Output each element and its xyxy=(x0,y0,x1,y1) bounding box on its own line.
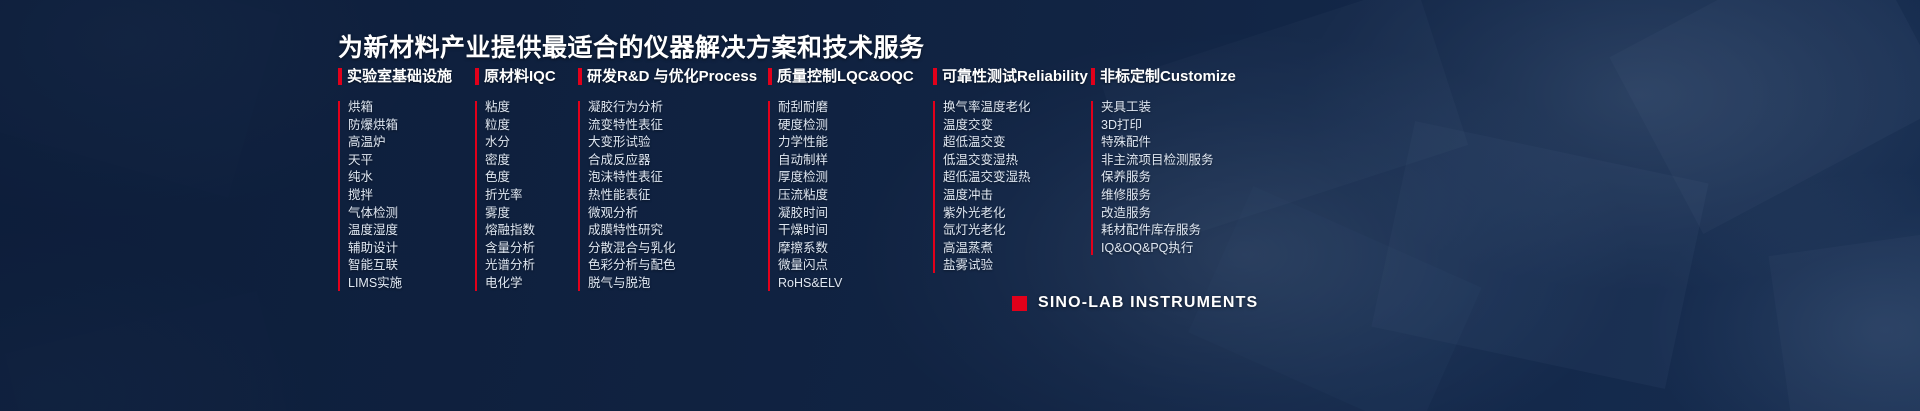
category-items-4: 耐刮耐磨 硬度检测 力学性能 自动制样 厚度检测 压流粘度 凝胶时间 干燥时间 … xyxy=(768,99,933,293)
list-item[interactable]: 非主流项目检测服务 xyxy=(1101,152,1251,170)
list-item[interactable]: 大变形试验 xyxy=(588,134,768,152)
list-item[interactable]: 凝胶行为分析 xyxy=(588,99,768,117)
category-column-3: 研发R&D 与优化Process 凝胶行为分析 流变特性表征 大变形试验 合成反… xyxy=(578,68,768,293)
category-items-5: 换气率温度老化 温度交变 超低温交变 低温交变湿热 超低温交变湿热 温度冲击 紫… xyxy=(933,99,1091,275)
category-column-1: 实验室基础设施 烘箱 防爆烘箱 高温炉 天平 纯水 搅拌 气体检测 温度湿度 辅… xyxy=(338,68,475,293)
list-item[interactable]: 维修服务 xyxy=(1101,187,1251,205)
category-items-1: 烘箱 防爆烘箱 高温炉 天平 纯水 搅拌 气体检测 温度湿度 辅助设计 智能互联… xyxy=(338,99,475,293)
category-header-2: 原材料IQC xyxy=(475,68,578,86)
list-item[interactable]: 成膜特性研究 xyxy=(588,222,768,240)
list-item[interactable]: 泡沫特性表征 xyxy=(588,169,768,187)
list-item[interactable]: 折光率 xyxy=(485,187,578,205)
list-item[interactable]: 智能互联 xyxy=(348,257,475,275)
list-item[interactable]: 防爆烘箱 xyxy=(348,117,475,135)
list-item[interactable]: 搅拌 xyxy=(348,187,475,205)
list-item[interactable]: 超低温交变湿热 xyxy=(943,169,1091,187)
banner-stage: 为新材料产业提供最适合的仪器解决方案和技术服务 实验室基础设施 烘箱 防爆烘箱 … xyxy=(0,0,1920,411)
category-column-6: 非标定制Customize 夹具工装 3D打印 特殊配件 非主流项目检测服务 保… xyxy=(1091,68,1251,293)
list-item[interactable]: 氙灯光老化 xyxy=(943,222,1091,240)
list-item[interactable]: 微量闪点 xyxy=(778,257,933,275)
list-item[interactable]: 保养服务 xyxy=(1101,169,1251,187)
list-item[interactable]: 耗材配件库存服务 xyxy=(1101,222,1251,240)
list-item[interactable]: 干燥时间 xyxy=(778,222,933,240)
list-item[interactable]: 紫外光老化 xyxy=(943,205,1091,223)
list-item[interactable]: 硬度检测 xyxy=(778,117,933,135)
list-item[interactable]: 温度交变 xyxy=(943,117,1091,135)
list-item[interactable]: 高温蒸煮 xyxy=(943,240,1091,258)
list-item[interactable]: 热性能表征 xyxy=(588,187,768,205)
list-item[interactable]: 粒度 xyxy=(485,117,578,135)
list-item[interactable]: 雾度 xyxy=(485,205,578,223)
category-header-1: 实验室基础设施 xyxy=(338,68,475,86)
list-item[interactable]: 合成反应器 xyxy=(588,152,768,170)
list-item[interactable]: 改造服务 xyxy=(1101,205,1251,223)
list-item[interactable]: 水分 xyxy=(485,134,578,152)
list-item[interactable]: 微观分析 xyxy=(588,205,768,223)
category-items-2: 粘度 粒度 水分 密度 色度 折光率 雾度 熔融指数 含量分析 光谱分析 电化学 xyxy=(475,99,578,293)
red-square-icon xyxy=(1012,296,1027,311)
list-item[interactable]: 摩擦系数 xyxy=(778,240,933,258)
list-item[interactable]: 电化学 xyxy=(485,275,578,293)
page-title: 为新材料产业提供最适合的仪器解决方案和技术服务 xyxy=(338,28,925,64)
list-item[interactable]: 夹具工装 xyxy=(1101,99,1251,117)
list-item[interactable]: 流变特性表征 xyxy=(588,117,768,135)
list-item[interactable]: 熔融指数 xyxy=(485,222,578,240)
brand-logo[interactable]: SINO-LAB INSTRUMENTS xyxy=(1012,294,1258,312)
list-item[interactable]: 换气率温度老化 xyxy=(943,99,1091,117)
category-header-4: 质量控制LQC&OQC xyxy=(768,68,933,86)
category-header-3: 研发R&D 与优化Process xyxy=(578,68,768,86)
category-items-6: 夹具工装 3D打印 特殊配件 非主流项目检测服务 保养服务 维修服务 改造服务 … xyxy=(1091,99,1251,257)
list-item[interactable]: 特殊配件 xyxy=(1101,134,1251,152)
list-item[interactable]: 力学性能 xyxy=(778,134,933,152)
list-item[interactable]: 温度湿度 xyxy=(348,222,475,240)
list-item[interactable]: 含量分析 xyxy=(485,240,578,258)
list-item[interactable]: 辅助设计 xyxy=(348,240,475,258)
list-item[interactable]: 凝胶时间 xyxy=(778,205,933,223)
list-item[interactable]: 粘度 xyxy=(485,99,578,117)
list-item[interactable]: 分散混合与乳化 xyxy=(588,240,768,258)
list-item[interactable]: 低温交变湿热 xyxy=(943,152,1091,170)
banner-content: 为新材料产业提供最适合的仪器解决方案和技术服务 实验室基础设施 烘箱 防爆烘箱 … xyxy=(0,0,1920,411)
category-column-4: 质量控制LQC&OQC 耐刮耐磨 硬度检测 力学性能 自动制样 厚度检测 压流粘… xyxy=(768,68,933,293)
list-item[interactable]: RoHS&ELV xyxy=(778,275,933,293)
list-item[interactable]: 温度冲击 xyxy=(943,187,1091,205)
list-item[interactable]: 纯水 xyxy=(348,169,475,187)
list-item[interactable]: 烘箱 xyxy=(348,99,475,117)
category-header-6: 非标定制Customize xyxy=(1091,68,1251,86)
list-item[interactable]: 气体检测 xyxy=(348,205,475,223)
category-column-5: 可靠性测试Reliability 换气率温度老化 温度交变 超低温交变 低温交变… xyxy=(933,68,1091,293)
list-item[interactable]: 脱气与脱泡 xyxy=(588,275,768,293)
list-item[interactable]: 耐刮耐磨 xyxy=(778,99,933,117)
category-columns: 实验室基础设施 烘箱 防爆烘箱 高温炉 天平 纯水 搅拌 气体检测 温度湿度 辅… xyxy=(338,68,1251,293)
list-item[interactable]: 自动制样 xyxy=(778,152,933,170)
brand-name: SINO-LAB INSTRUMENTS xyxy=(1038,294,1258,312)
list-item[interactable]: 光谱分析 xyxy=(485,257,578,275)
list-item[interactable]: 色彩分析与配色 xyxy=(588,257,768,275)
category-items-3: 凝胶行为分析 流变特性表征 大变形试验 合成反应器 泡沫特性表征 热性能表征 微… xyxy=(578,99,768,293)
list-item[interactable]: IQ&OQ&PQ执行 xyxy=(1101,240,1251,258)
list-item[interactable]: 厚度检测 xyxy=(778,169,933,187)
category-header-5: 可靠性测试Reliability xyxy=(933,68,1091,86)
category-column-2: 原材料IQC 粘度 粒度 水分 密度 色度 折光率 雾度 熔融指数 含量分析 光… xyxy=(475,68,578,293)
list-item[interactable]: 密度 xyxy=(485,152,578,170)
list-item[interactable]: 压流粘度 xyxy=(778,187,933,205)
list-item[interactable]: 高温炉 xyxy=(348,134,475,152)
list-item[interactable]: 超低温交变 xyxy=(943,134,1091,152)
list-item[interactable]: LIMS实施 xyxy=(348,275,475,293)
list-item[interactable]: 色度 xyxy=(485,169,578,187)
list-item[interactable]: 盐雾试验 xyxy=(943,257,1091,275)
list-item[interactable]: 天平 xyxy=(348,152,475,170)
list-item[interactable]: 3D打印 xyxy=(1101,117,1251,135)
